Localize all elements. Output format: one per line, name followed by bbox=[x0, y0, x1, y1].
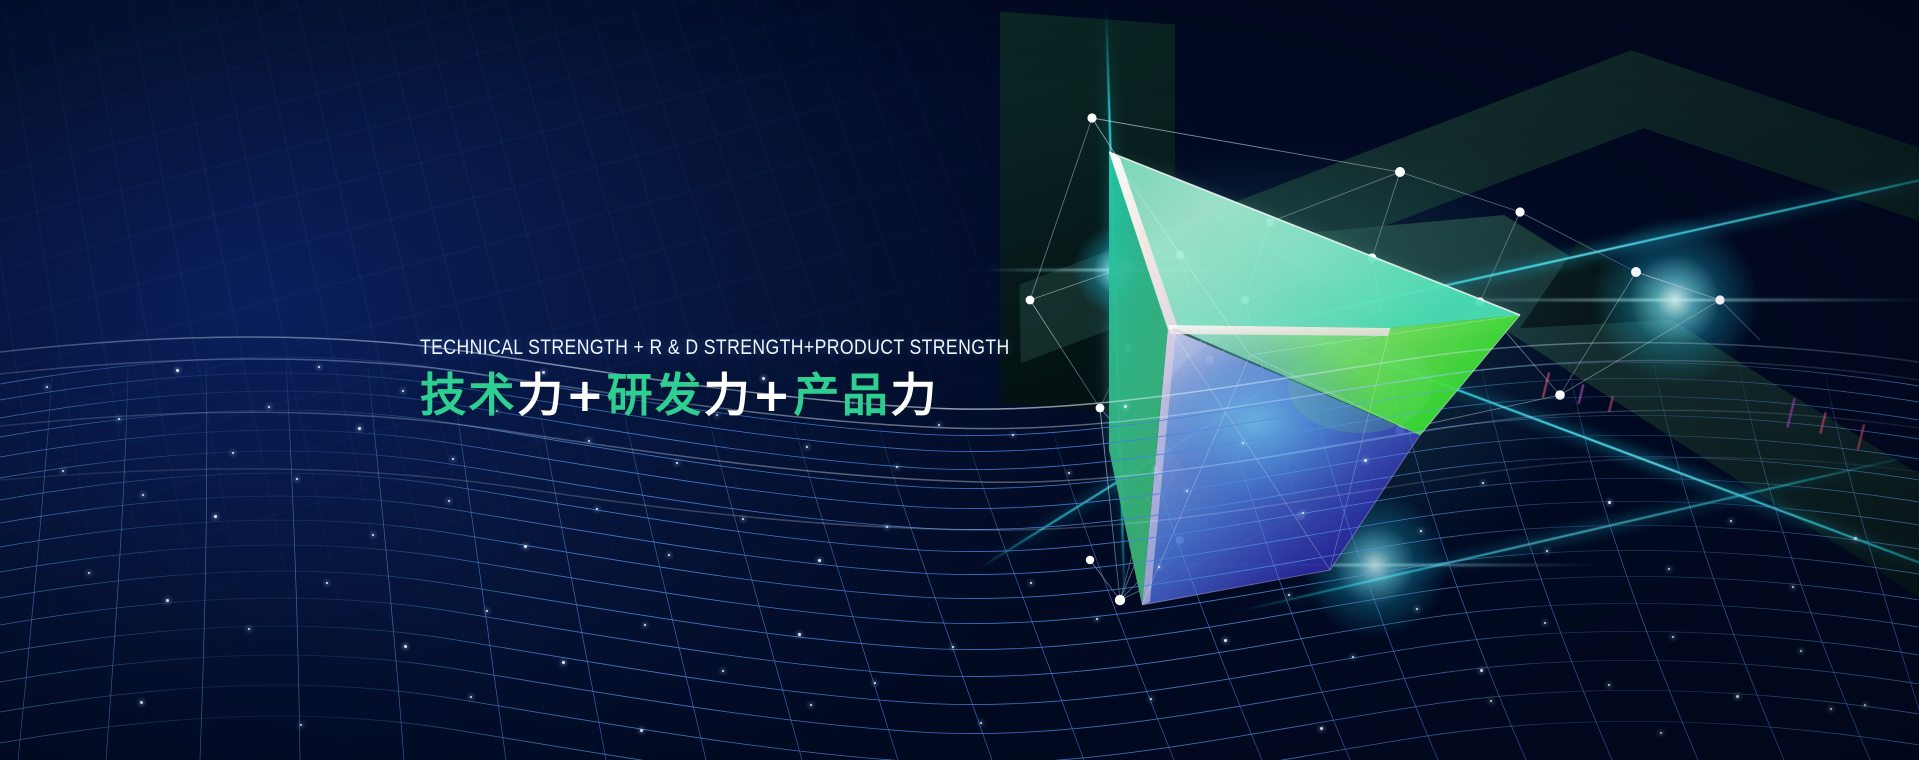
page-title: 技术力+研发力+产品力 bbox=[420, 368, 1040, 422]
headline-segment-6: 力 bbox=[890, 368, 939, 422]
headline-segment-4: 力 bbox=[704, 368, 753, 422]
headline-segment-3: 研发 bbox=[607, 368, 704, 422]
headline-segment-1: 技术 bbox=[420, 368, 517, 422]
headline-segment-5: 产品 bbox=[793, 368, 890, 422]
headline-separator-2: + bbox=[752, 368, 793, 422]
headline-separator-1: + bbox=[566, 368, 607, 422]
eyebrow-text: TECHNICAL STRENGTH + R & D STRENGTH+PROD… bbox=[420, 336, 941, 359]
hero-copy-block: TECHNICAL STRENGTH + R & D STRENGTH+PROD… bbox=[420, 336, 1040, 422]
headline-segment-2: 力 bbox=[517, 368, 566, 422]
hero-banner: TECHNICAL STRENGTH + R & D STRENGTH+PROD… bbox=[0, 0, 1919, 760]
